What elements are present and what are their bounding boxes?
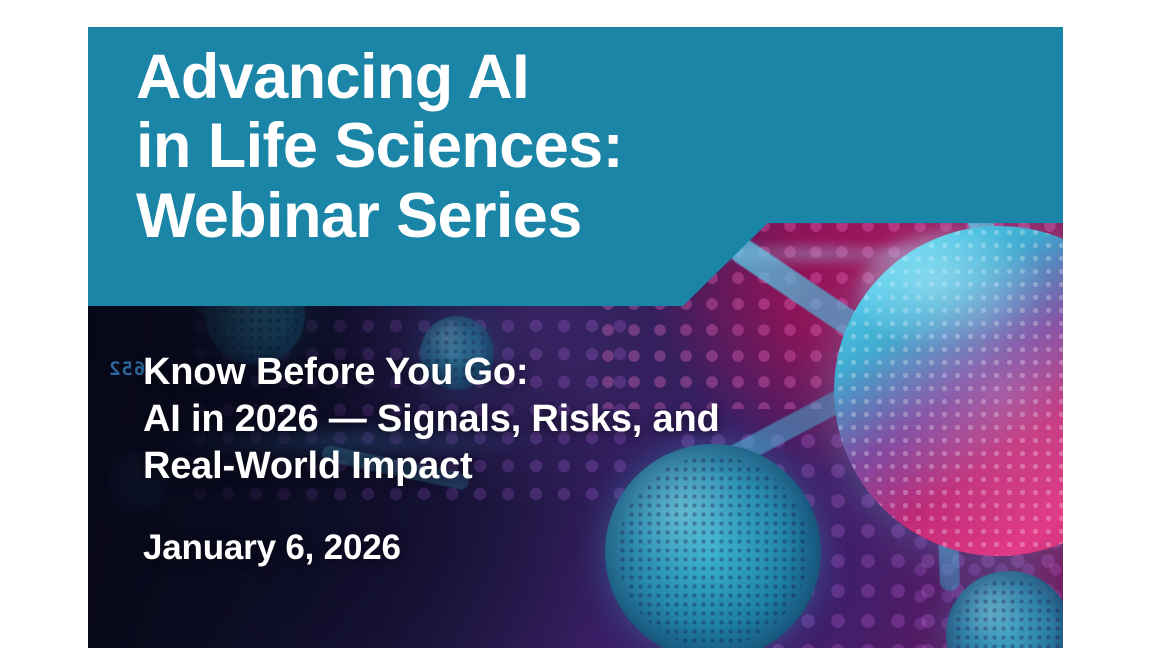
- session-title-line-1: Know Before You Go:: [143, 349, 933, 396]
- event-date: January 6, 2026: [143, 528, 401, 568]
- series-title-line-3: Webinar Series: [136, 182, 776, 251]
- series-title-line-2: in Life Sciences:: [136, 112, 776, 181]
- session-title-line-3: Real-World Impact: [143, 443, 933, 490]
- session-title-line-2: AI in 2026 — Signals, Risks, and: [143, 396, 933, 443]
- session-title: Know Before You Go: AI in 2026 — Signals…: [143, 349, 933, 490]
- series-title: Advancing AI in Life Sciences: Webinar S…: [136, 43, 776, 251]
- webinar-banner: Advancing AI in Life Sciences: Webinar S…: [0, 0, 1152, 648]
- overlay-counter: 652: [108, 358, 145, 380]
- series-title-line-1: Advancing AI: [136, 43, 776, 112]
